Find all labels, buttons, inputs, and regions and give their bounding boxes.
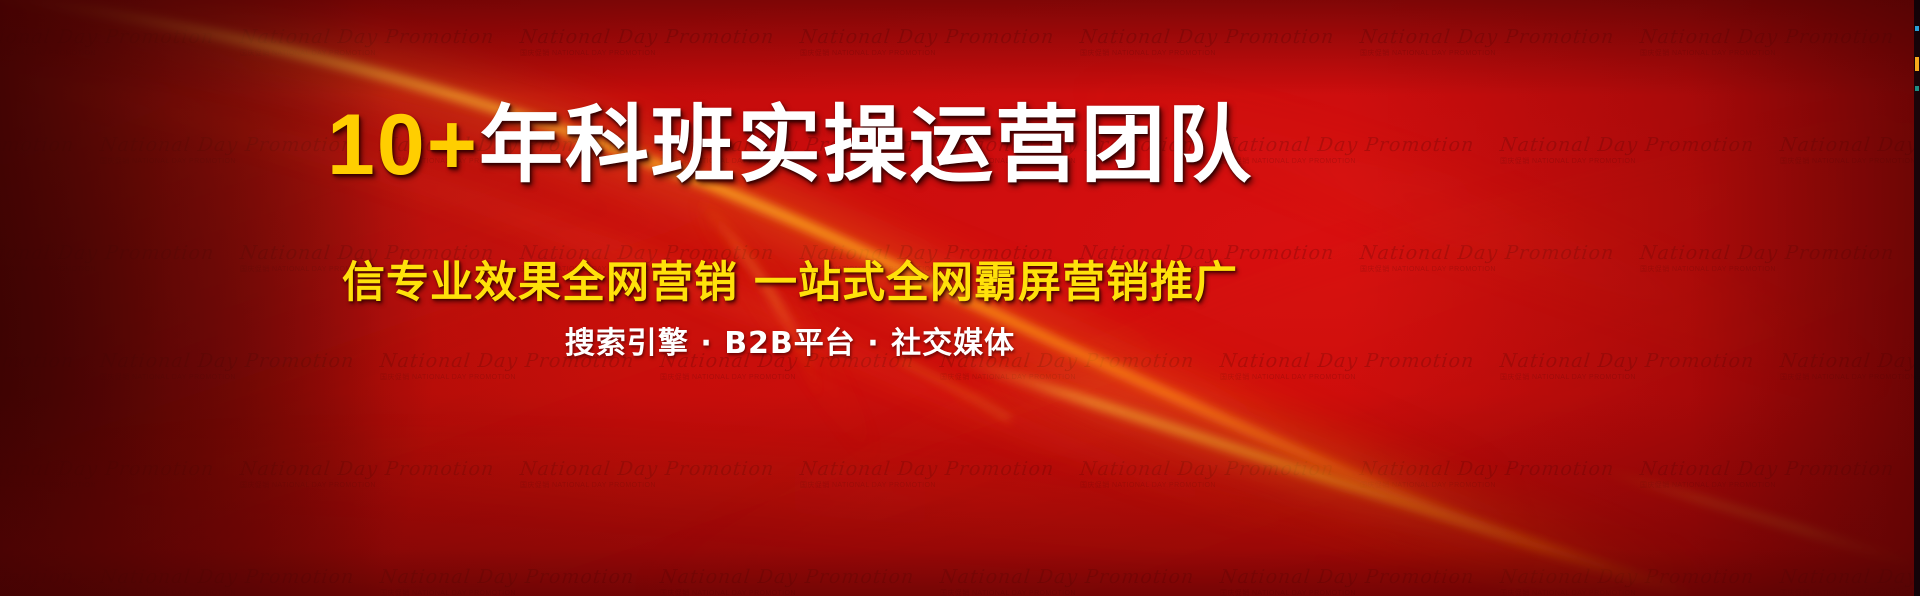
edge-marker-teal: [1915, 86, 1919, 91]
headline: 10+年科班实操运营团队: [0, 100, 1580, 191]
banner-content: 10+年科班实操运营团队 信专业效果全网营销 一站式全网霸屏营销推广 搜索引擎 …: [0, 0, 1920, 596]
edge-marker-blue: [1915, 26, 1919, 31]
edge-marker-orange: [1915, 57, 1919, 71]
subheadline: 信专业效果全网营销 一站式全网霸屏营销推广: [0, 248, 1580, 310]
headline-text: 年科班实操运营团队: [479, 96, 1253, 194]
tagline: 搜索引擎 · B2B平台 · 社交媒体: [0, 318, 1580, 362]
right-edge-strip: [1914, 0, 1920, 596]
promo-banner: National Day Promotion国庆促销 NATIONAL DAY …: [0, 0, 1920, 596]
headline-number: 10+: [327, 97, 479, 193]
